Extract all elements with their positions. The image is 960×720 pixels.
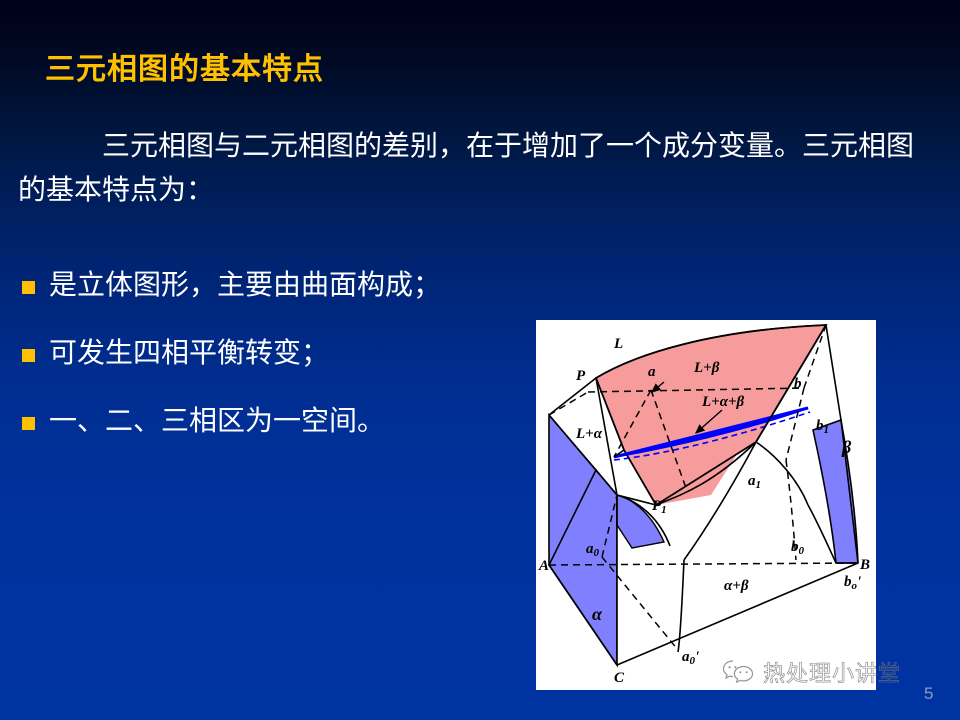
page-title: 三元相图的基本特点	[45, 44, 324, 88]
label-b0: b0	[791, 539, 805, 557]
label-b1: b1	[816, 418, 829, 436]
list-item-label: 是立体图形，主要由曲面构成；	[49, 270, 441, 302]
square-bullet-icon	[22, 417, 35, 430]
body-paragraph: 三元相图与二元相图的差别，在于增加了一个成分变量。三元相图的基本特点为：	[18, 125, 918, 213]
label-b0-prime: bo'	[844, 574, 861, 592]
label-a0-prime: a0'	[682, 649, 699, 667]
region-beta-right-face	[813, 420, 858, 563]
list-item: 可发生四相平衡转变；	[22, 320, 542, 388]
ternary-phase-diagram-figure: L L+β P a b L+α+β L+α b1 β a1 P1 a0 b0 A…	[536, 320, 876, 690]
label-L-alpha-beta: L+α+β	[701, 394, 745, 410]
list-item: 一、二、三相区为一空间。	[22, 388, 542, 456]
label-alpha: α	[592, 604, 603, 624]
label-A: A	[538, 558, 549, 574]
label-C: C	[614, 670, 625, 686]
label-P: P	[576, 368, 586, 384]
list-item: 是立体图形，主要由曲面构成；	[22, 252, 542, 320]
label-B: B	[859, 557, 870, 573]
ternary-phase-diagram-svg: L L+β P a b L+α+β L+α b1 β a1 P1 a0 b0 A…	[536, 320, 876, 690]
square-bullet-icon	[22, 281, 35, 294]
square-bullet-icon	[22, 349, 35, 362]
label-L-beta: L+β	[693, 360, 720, 376]
label-L-alpha: L+α	[575, 426, 603, 442]
list-item-label: 可发生四相平衡转变；	[49, 338, 329, 370]
label-beta: β	[841, 437, 852, 457]
page-number: 5	[924, 684, 933, 704]
label-a: a	[648, 364, 656, 380]
label-a1: a1	[748, 473, 761, 491]
label-L: L	[613, 336, 623, 352]
label-b: b	[794, 376, 802, 392]
slide-canvas: 三元相图的基本特点 三元相图与二元相图的差别，在于增加了一个成分变量。三元相图的…	[0, 0, 960, 720]
bullet-list: 是立体图形，主要由曲面构成； 可发生四相平衡转变； 一、二、三相区为一空间。	[22, 252, 542, 456]
list-item-label: 一、二、三相区为一空间。	[49, 406, 385, 438]
label-alpha-plus-beta: α+β	[724, 578, 749, 594]
